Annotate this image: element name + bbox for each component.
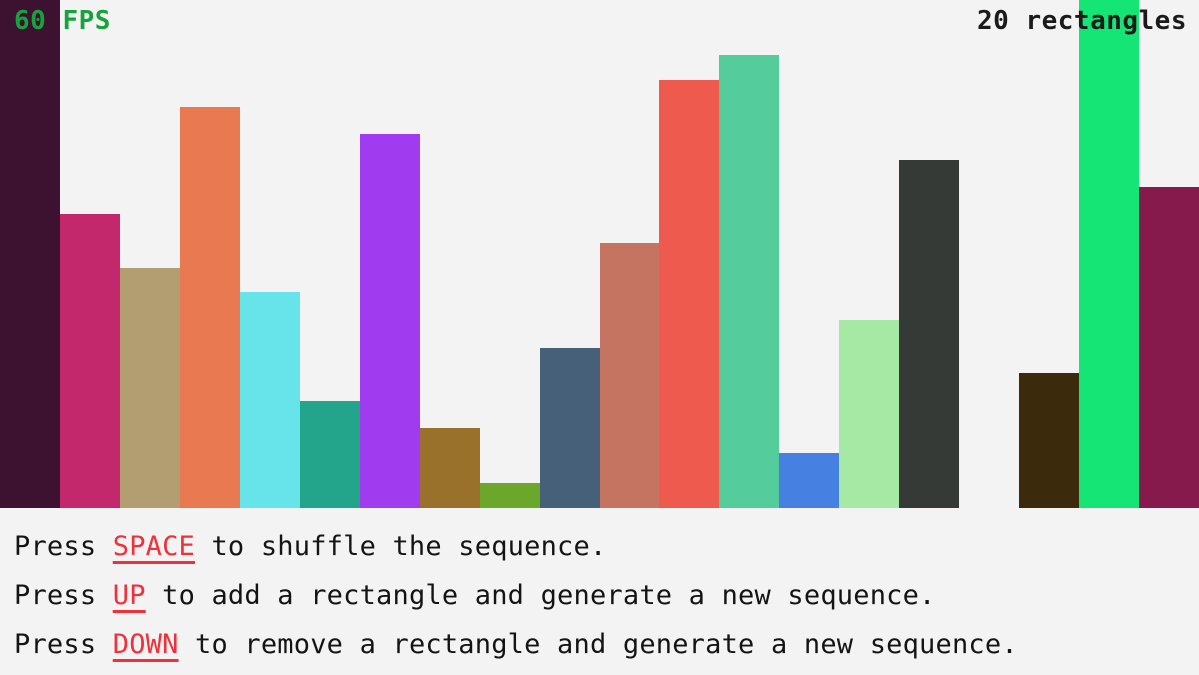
instruction-line-3: Press DOWN to remove a rectangle and gen… xyxy=(14,620,1199,669)
bar-9 xyxy=(480,483,540,508)
bar-3 xyxy=(120,268,180,508)
instruction-prefix: Press xyxy=(14,629,113,660)
chart-stage: 60 FPS 20 rectangles xyxy=(0,0,1199,508)
bar-2 xyxy=(60,214,120,508)
instruction-line-2: Press UP to add a rectangle and generate… xyxy=(14,571,1199,620)
key-down[interactable]: DOWN xyxy=(113,629,179,660)
instruction-prefix: Press xyxy=(14,580,113,611)
bar-5 xyxy=(240,292,300,508)
bar-1 xyxy=(0,0,60,508)
key-space[interactable]: SPACE xyxy=(113,531,195,562)
bar-4 xyxy=(180,107,240,508)
bar-16 xyxy=(899,160,959,508)
bar-10 xyxy=(540,348,600,508)
instruction-prefix: Press xyxy=(14,531,113,562)
bar-series xyxy=(0,0,1199,508)
bar-8 xyxy=(420,428,480,508)
rectangle-sequence-app: 60 FPS 20 rectangles Press SPACE to shuf… xyxy=(0,0,1199,675)
fps-counter: 60 FPS xyxy=(14,8,111,34)
instruction-suffix: to remove a rectangle and generate a new… xyxy=(179,629,1018,660)
bar-6 xyxy=(300,401,360,508)
bar-11 xyxy=(600,243,660,508)
rectangle-count-label: 20 rectangles xyxy=(977,8,1187,34)
bar-20 xyxy=(1139,187,1199,508)
bar-19 xyxy=(1079,0,1139,508)
instruction-line-1: Press SPACE to shuffle the sequence. xyxy=(14,522,1199,571)
bar-7 xyxy=(360,134,420,508)
bar-14 xyxy=(779,453,839,508)
bar-15 xyxy=(839,320,899,508)
bar-13 xyxy=(719,55,779,508)
instruction-suffix: to shuffle the sequence. xyxy=(195,531,606,562)
bar-18 xyxy=(1019,373,1079,508)
instructions-panel: Press SPACE to shuffle the sequence.Pres… xyxy=(0,508,1199,675)
instruction-suffix: to add a rectangle and generate a new se… xyxy=(146,580,936,611)
key-up[interactable]: UP xyxy=(113,580,146,611)
bar-12 xyxy=(659,80,719,508)
